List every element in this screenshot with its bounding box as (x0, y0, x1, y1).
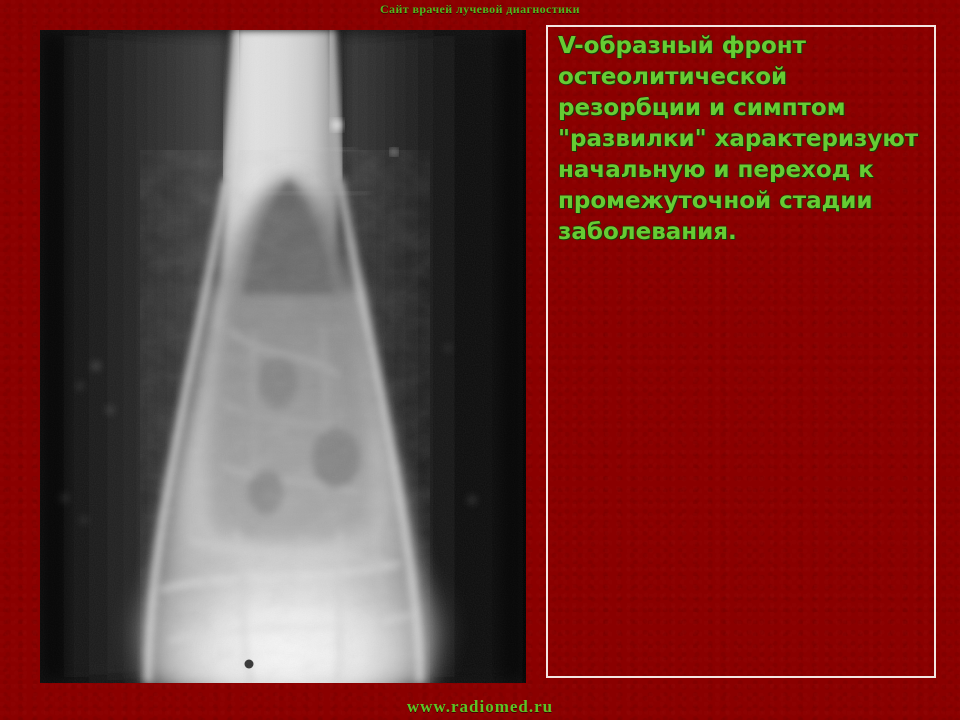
site-footer-url: www.radiomed.ru (0, 697, 960, 717)
caption-text: V-образный фронт остеолитической резорбц… (558, 31, 926, 248)
radiograph-image (40, 30, 526, 683)
radiograph-canvas (40, 30, 526, 683)
site-header-title: Сайт врачей лучевой диагностики (0, 2, 960, 17)
presentation-slide: Сайт врачей лучевой диагностики (0, 0, 960, 720)
caption-textbox: V-образный фронт остеолитической резорбц… (546, 25, 936, 678)
